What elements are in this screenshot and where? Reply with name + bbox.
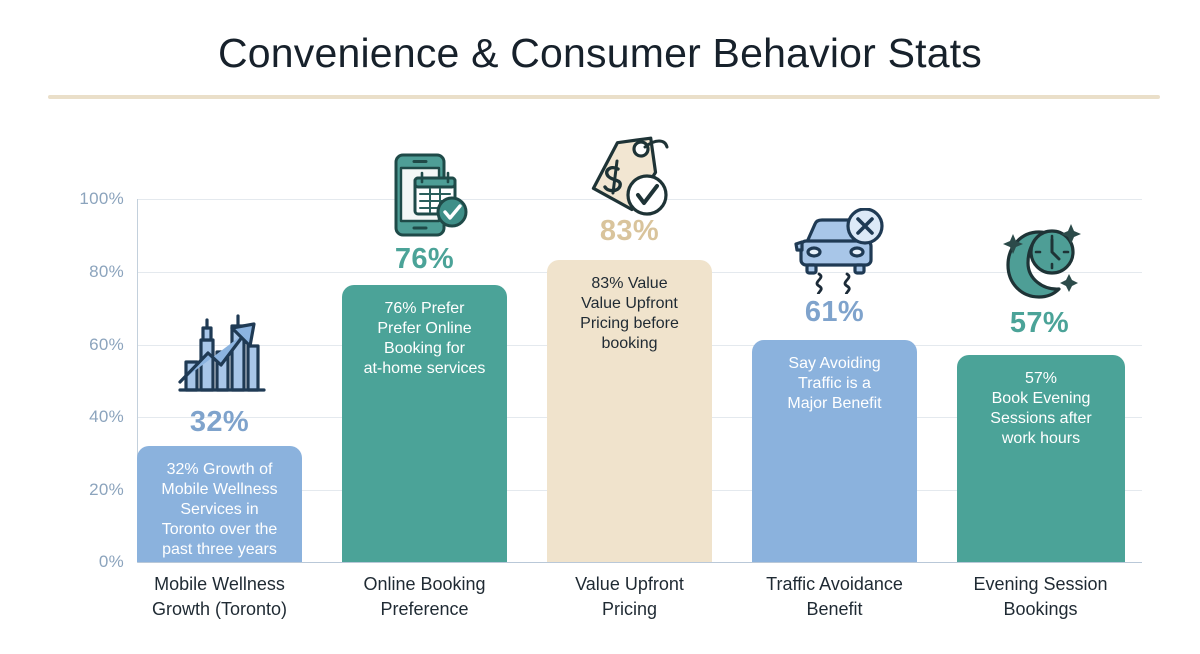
bar-text-5: 57% Book Evening Sessions after work hou…	[957, 369, 1125, 449]
category-label-3: Value Upfront Pricing	[522, 572, 737, 622]
bar-online-booking-preference[interactable]: 76% Prefer Prefer Online Booking for at-…	[342, 285, 507, 562]
no-traffic-car-icon	[793, 208, 885, 294]
bar-text-2: 76% Prefer Prefer Online Booking for at-…	[342, 299, 507, 379]
category-label-1: Mobile Wellness Growth (Toronto)	[112, 572, 327, 622]
value-label-1: 32%	[137, 406, 302, 439]
value-label-3: 83%	[547, 215, 712, 248]
header: Convenience & Consumer Behavior Stats	[0, 0, 1200, 100]
bar-value-upfront-pricing[interactable]: 83% Value Value Upfront Pricing before b…	[547, 260, 712, 562]
ytick-label-100: 100%	[34, 189, 124, 209]
category-label-4: Traffic Avoidance Benefit	[727, 572, 942, 622]
bar-traffic-avoidance-benefit[interactable]: Say Avoiding Traffic is a Major Benefit	[752, 340, 917, 562]
bar-mobile-wellness-growth[interactable]: 32% Growth of Mobile Wellness Services i…	[137, 446, 302, 562]
value-label-2: 76%	[342, 243, 507, 276]
ytick-label-60: 60%	[34, 335, 124, 355]
value-label-5: 57%	[957, 307, 1122, 340]
title-divider	[48, 95, 1160, 99]
bar-text-3: 83% Value Value Upfront Pricing before b…	[547, 274, 712, 354]
price-tag-icon	[583, 133, 675, 223]
ytick-label-40: 40%	[34, 407, 124, 427]
value-label-4: 61%	[752, 296, 917, 329]
ytick-label-20: 20%	[34, 480, 124, 500]
category-label-5: Evening Session Bookings	[933, 572, 1148, 622]
bar-chart: 100% 80% 60% 40% 20% 0% 32%	[0, 100, 1200, 654]
ytick-label-80: 80%	[34, 262, 124, 282]
ytick-label-0: 0%	[34, 552, 124, 572]
bar-text-4: Say Avoiding Traffic is a Major Benefit	[752, 354, 917, 414]
category-label-2: Online Booking Preference	[317, 572, 532, 622]
mobile-booking-icon	[390, 152, 470, 238]
page-title: Convenience & Consumer Behavior Stats	[0, 30, 1200, 77]
bar-evening-session-bookings[interactable]: 57% Book Evening Sessions after work hou…	[957, 355, 1125, 562]
night-clock-icon	[995, 218, 1085, 304]
bar-text-1: 32% Growth of Mobile Wellness Services i…	[137, 460, 302, 560]
growth-chart-icon	[174, 312, 266, 400]
axis-baseline	[137, 562, 1142, 563]
